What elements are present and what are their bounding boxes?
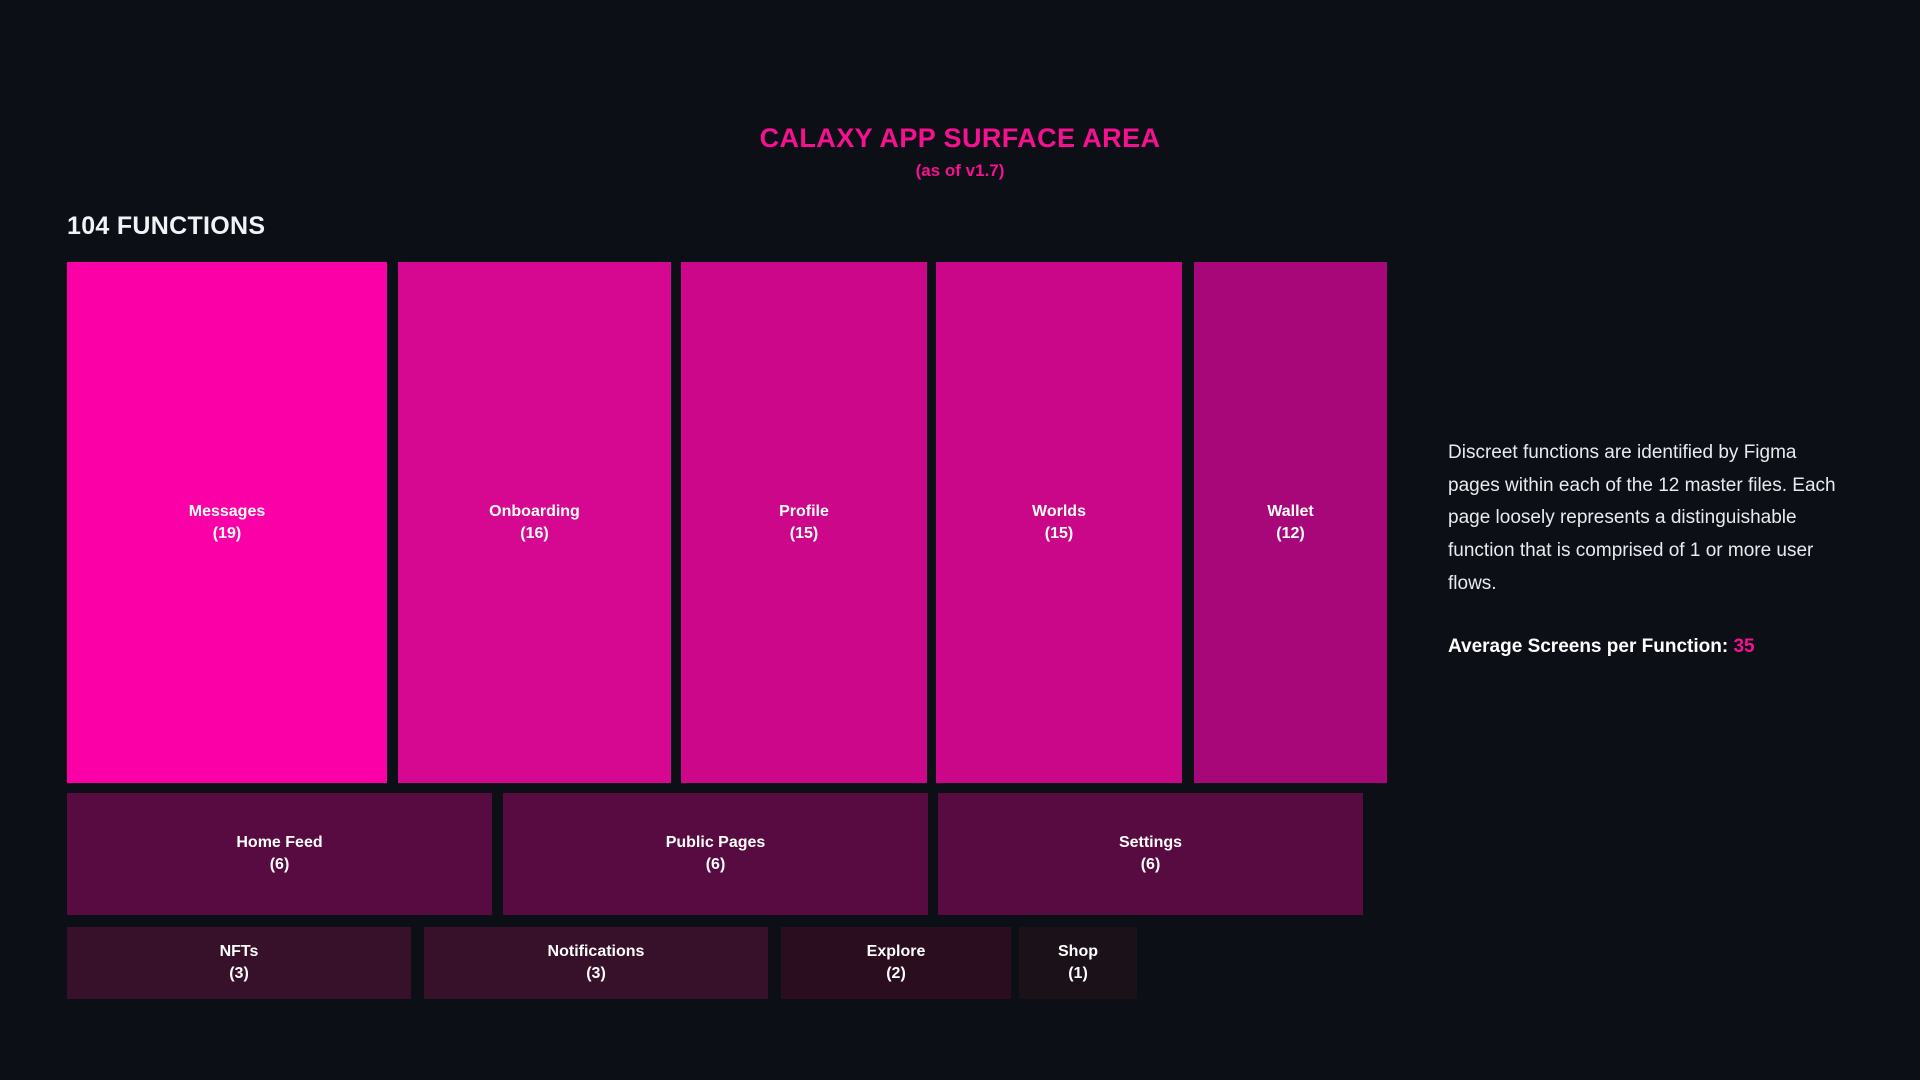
treemap-cell-label: Onboarding [489, 501, 580, 523]
treemap-cell[interactable]: Settings(6) [938, 793, 1363, 915]
side-note-paragraph: Discreet functions are identified by Fig… [1448, 437, 1838, 600]
treemap-cell-value: (12) [1276, 523, 1304, 545]
side-note-panel: Discreet functions are identified by Fig… [1448, 437, 1838, 661]
treemap-cell-value: (2) [886, 963, 906, 985]
average-screens-label: Average Screens per Function: [1448, 636, 1728, 657]
average-screens-line: Average Screens per Function: 35 [1448, 634, 1838, 661]
treemap-cell[interactable]: Notifications(3) [424, 927, 768, 999]
treemap-cell[interactable]: Explore(2) [781, 927, 1011, 999]
treemap-cell-value: (3) [229, 963, 249, 985]
average-screens-value: 35 [1733, 636, 1754, 657]
treemap-cell[interactable]: Shop(1) [1019, 927, 1137, 999]
treemap-cell-label: Wallet [1267, 501, 1314, 523]
treemap-cell-value: (6) [270, 854, 290, 876]
treemap-cell-label: Messages [189, 501, 266, 523]
treemap-cell-value: (3) [586, 963, 606, 985]
treemap-cell-label: Profile [779, 501, 829, 523]
treemap-cell[interactable]: Messages(19) [67, 262, 387, 783]
treemap-cell-label: Settings [1119, 832, 1182, 854]
treemap-cell-value: (6) [1141, 854, 1161, 876]
treemap-cell[interactable]: Home Feed(6) [67, 793, 492, 915]
treemap-cell[interactable]: Worlds(15) [936, 262, 1182, 783]
treemap-cell-label: Explore [867, 941, 926, 963]
treemap-cell-label: Shop [1058, 941, 1098, 963]
treemap-cell-label: Public Pages [666, 832, 766, 854]
treemap-cell-value: (1) [1068, 963, 1088, 985]
treemap-cell-label: Notifications [548, 941, 645, 963]
treemap-cell[interactable]: Onboarding(16) [398, 262, 671, 783]
treemap-cell[interactable]: Wallet(12) [1194, 262, 1387, 783]
treemap-cell[interactable]: Profile(15) [681, 262, 927, 783]
treemap-cell-value: (6) [706, 854, 726, 876]
treemap-cell-value: (15) [1045, 523, 1073, 545]
infographic-canvas: CALAXY APP SURFACE AREA (as of v1.7) 104… [0, 0, 1920, 1080]
treemap-cell[interactable]: NFTs(3) [67, 927, 411, 999]
treemap-cell-label: NFTs [220, 941, 259, 963]
treemap-cell-label: Home Feed [236, 832, 322, 854]
treemap-cell-value: (16) [520, 523, 548, 545]
treemap-cell[interactable]: Public Pages(6) [503, 793, 928, 915]
treemap-cell-value: (19) [213, 523, 241, 545]
treemap-cell-label: Worlds [1032, 501, 1086, 523]
treemap-cell-value: (15) [790, 523, 818, 545]
